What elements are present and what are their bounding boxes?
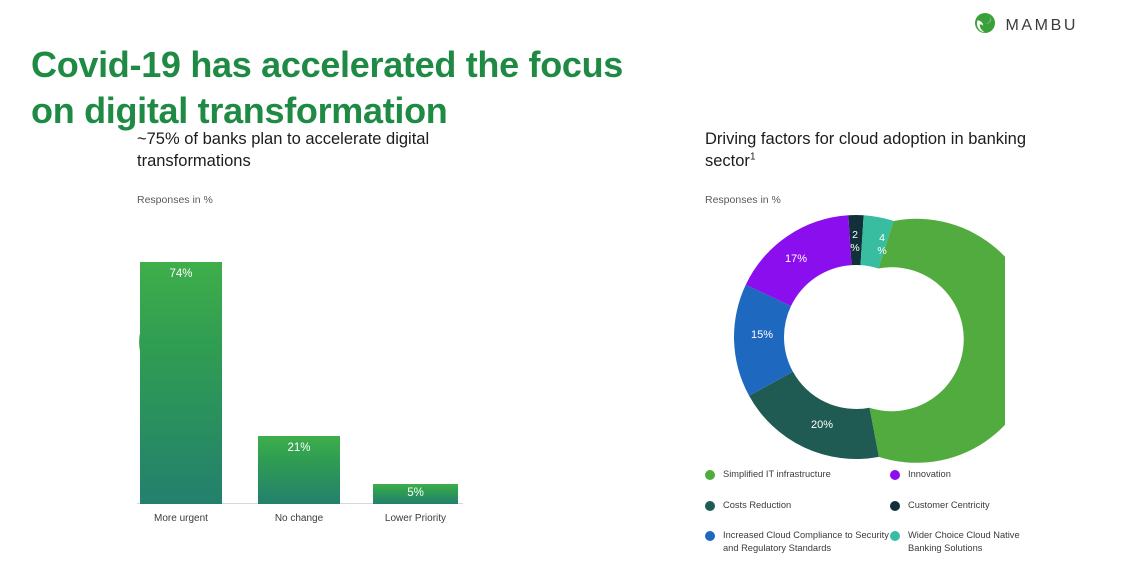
- donut-chart: 2 % 4 % 42% 20% 15% 17%: [705, 206, 1005, 468]
- legend-item-label: Innovation: [908, 468, 951, 481]
- page-title: Covid-19 has accelerated the focus on di…: [31, 42, 631, 134]
- bar-category-label: More urgent: [118, 513, 244, 524]
- bar-category-label: Lower Priority: [351, 513, 480, 524]
- legend-item-label: Wider Choice Cloud Native Banking Soluti…: [908, 529, 1035, 554]
- donut-slice: [870, 219, 1006, 463]
- donut-chart-title-text: Driving factors for cloud adoption in ba…: [705, 130, 1026, 170]
- legend-color-swatch: [705, 470, 715, 480]
- legend-item-label: Increased Cloud Compliance to Security a…: [723, 529, 890, 554]
- legend-color-swatch: [890, 531, 900, 541]
- mambu-swirl-icon: [974, 12, 996, 39]
- legend-color-swatch: [890, 470, 900, 480]
- bar-group: 5% Lower Priority: [373, 484, 458, 504]
- bar-rect[interactable]: 74%: [140, 262, 222, 504]
- donut-value-label: 2: [852, 229, 858, 241]
- bar-value-label: 21%: [258, 442, 340, 454]
- legend-item[interactable]: Wider Choice Cloud Native Banking Soluti…: [890, 529, 1035, 554]
- legend-item[interactable]: Customer Centricity: [890, 499, 1035, 512]
- bar-category-label: No change: [236, 513, 362, 524]
- bar-group: 74% More urgent: [140, 262, 222, 504]
- donut-chart-subtitle: Responses in %: [705, 194, 1105, 206]
- bar-chart-panel: ~75% of banks plan to accelerate digital…: [137, 128, 617, 548]
- brand-logo: MAMBU: [974, 12, 1078, 39]
- bar-rect[interactable]: 21%: [258, 436, 340, 504]
- legend-color-swatch: [705, 501, 715, 511]
- bar-chart-title: ~75% of banks plan to accelerate digital…: [137, 128, 477, 172]
- donut-value-label: 20%: [811, 419, 833, 431]
- donut-value-label: 17%: [785, 253, 807, 265]
- donut-chart-panel: Driving factors for cloud adoption in ba…: [705, 128, 1105, 558]
- legend-item-label: Customer Centricity: [908, 499, 990, 512]
- donut-value-label-unit: %: [850, 242, 859, 254]
- legend-item[interactable]: Simplified IT infrastructure: [705, 468, 890, 481]
- donut-value-label: 4: [879, 232, 885, 244]
- legend-item-label: Simplified IT infrastructure: [723, 468, 831, 481]
- legend-item[interactable]: Increased Cloud Compliance to Security a…: [705, 529, 890, 554]
- legend-item[interactable]: Innovation: [890, 468, 1035, 481]
- bar-value-label: 5%: [373, 487, 458, 499]
- donut-legend: Simplified IT infrastructure Innovation …: [705, 468, 1035, 554]
- bar-value-label: 74%: [140, 268, 222, 280]
- legend-item[interactable]: Costs Reduction: [705, 499, 890, 512]
- legend-item-label: Costs Reduction: [723, 499, 791, 512]
- donut-value-label: 42%: [941, 329, 963, 341]
- donut-value-label-unit: %: [877, 245, 886, 257]
- bar-group: 21% No change: [258, 436, 340, 504]
- brand-wordmark: MAMBU: [1005, 17, 1078, 35]
- donut-chart-title: Driving factors for cloud adoption in ba…: [705, 128, 1045, 172]
- bar-chart: ~75% 74% More urgent 21% No change 5% Lo…: [137, 216, 477, 546]
- donut-chart-title-footnote: 1: [750, 152, 756, 163]
- bar-chart-subtitle: Responses in %: [137, 194, 617, 206]
- donut-value-label: 15%: [751, 329, 773, 341]
- legend-color-swatch: [705, 531, 715, 541]
- bar-rect[interactable]: 5%: [373, 484, 458, 504]
- legend-color-swatch: [890, 501, 900, 511]
